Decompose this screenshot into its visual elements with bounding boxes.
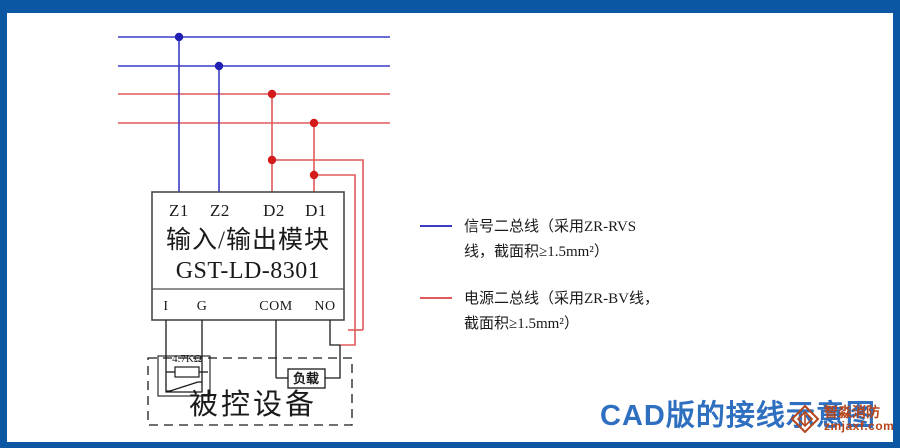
module-model-label: GST-LD-8301: [176, 258, 321, 284]
legend-signal-bus-line-1: 信号二总线（采用ZR-RVS: [464, 218, 636, 235]
module-terminal-d2: D2: [263, 201, 285, 220]
junction-dot-d1-bus: [310, 119, 318, 127]
module-terminal-no: NO: [314, 299, 335, 314]
legend-signal-bus-line-2: 线，截面积≥1.5mm²）: [464, 243, 609, 260]
wiring-diagram-page: Z1 Z2 D2 D1 输入/输出模块 GST-LD-8301 I G COM …: [0, 0, 900, 448]
module-name-label: 输入/输出模块: [166, 226, 330, 254]
junction-dot-d1-branch: [310, 171, 318, 179]
legend-power-bus-line-2: 截面积≥1.5mm²）: [464, 315, 579, 332]
module-terminal-z2: Z2: [210, 201, 230, 220]
brand-diamond-icon: [790, 404, 820, 434]
load-box[interactable]: 负载: [276, 369, 325, 388]
bus-lines: [118, 37, 390, 123]
circuit-diagram-svg: Z1 Z2 D2 D1 输入/输出模块 GST-LD-8301 I G COM …: [0, 0, 900, 448]
no-to-load-wire: [325, 345, 340, 378]
bus-drop-wires: [179, 37, 314, 192]
module-terminal-d1: D1: [305, 201, 327, 220]
module-terminal-com: COM: [259, 299, 292, 314]
legend-power-bus-line-1: 电源二总线（采用ZR-BV线，: [464, 290, 659, 307]
module-terminal-g: G: [197, 299, 208, 314]
junction-dot-d2-branch: [268, 156, 276, 164]
watermark-url: zmjaxf.com: [824, 420, 894, 433]
junction-dot-z1: [175, 33, 183, 41]
junction-dot-d2-bus: [268, 90, 276, 98]
junction-dot-z2: [215, 62, 223, 70]
module-terminal-i: I: [163, 299, 168, 314]
drop-wire-no: [330, 320, 340, 345]
resistor-symbol: [175, 367, 199, 377]
junction-dots: [175, 33, 318, 179]
legend: 信号二总线（采用ZR-RVS 线，截面积≥1.5mm²） 电源二总线（采用ZR-…: [420, 218, 659, 332]
watermark: 智淼消防 zmjaxf.com: [790, 404, 894, 434]
resistor-value-label: 4.7KΩ: [172, 353, 202, 365]
watermark-brand: 智淼消防: [824, 405, 894, 420]
watermark-text: 智淼消防 zmjaxf.com: [824, 405, 894, 432]
controlled-device-label: 被控设备: [189, 388, 317, 421]
io-module-box[interactable]: Z1 Z2 D2 D1 输入/输出模块 GST-LD-8301 I G COM …: [152, 192, 344, 320]
module-terminal-z1: Z1: [169, 201, 189, 220]
load-label: 负载: [293, 371, 319, 386]
